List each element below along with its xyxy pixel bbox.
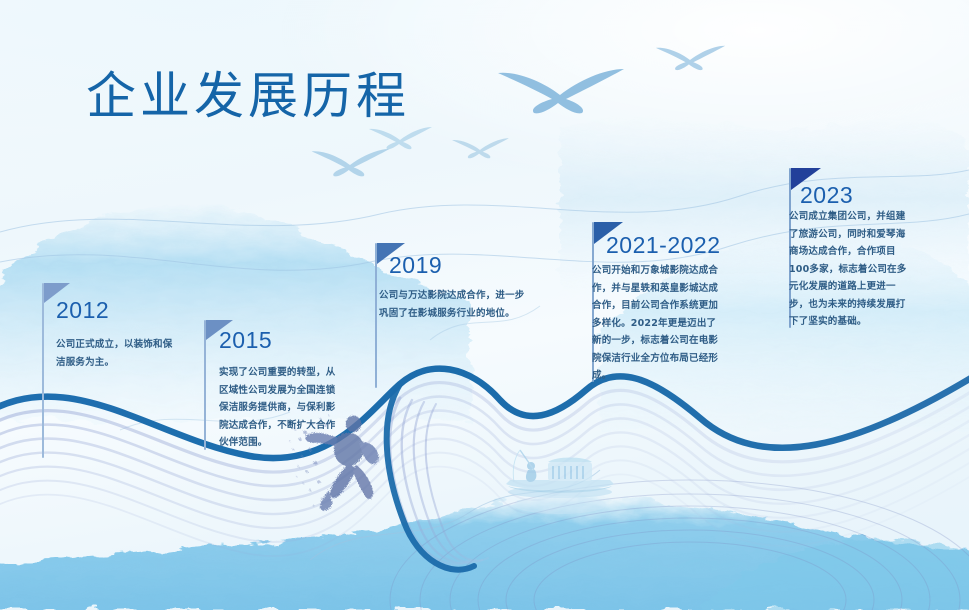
- milestone-year: 2021-2022: [606, 232, 721, 259]
- poster-canvas: 企业发展历程 2012公司正式成立，以装饰和保洁服务为主。2015实现了公司重要…: [0, 0, 969, 610]
- milestone-description: 公司开始和万象城影院达成合作，并与星轶和英皇影城达成合作，目前公司合作系统更加多…: [592, 262, 722, 385]
- milestone-description: 公司与万达影院达成合作，进一步巩固了在影城服务行业的地位。: [379, 287, 531, 322]
- ribbon-leading-edge: [0, 360, 969, 458]
- milestone-description: 实现了公司重要的转型，从区域性公司发展为全国连锁保洁服务提供商，与保利影院达成合…: [219, 364, 344, 452]
- milestone-year: 2012: [56, 297, 109, 324]
- milestone-year: 2019: [389, 252, 442, 279]
- milestone-year: 2015: [219, 327, 272, 354]
- milestone-description: 公司正式成立，以装饰和保洁服务为主。: [56, 336, 176, 371]
- milestone-description: 公司成立集团公司，并组建了旅游公司，同时和爱琴海商场达成合作，合作项目100多家…: [789, 208, 914, 331]
- page-title: 企业发展历程: [86, 56, 410, 128]
- milestone-year: 2023: [800, 182, 853, 209]
